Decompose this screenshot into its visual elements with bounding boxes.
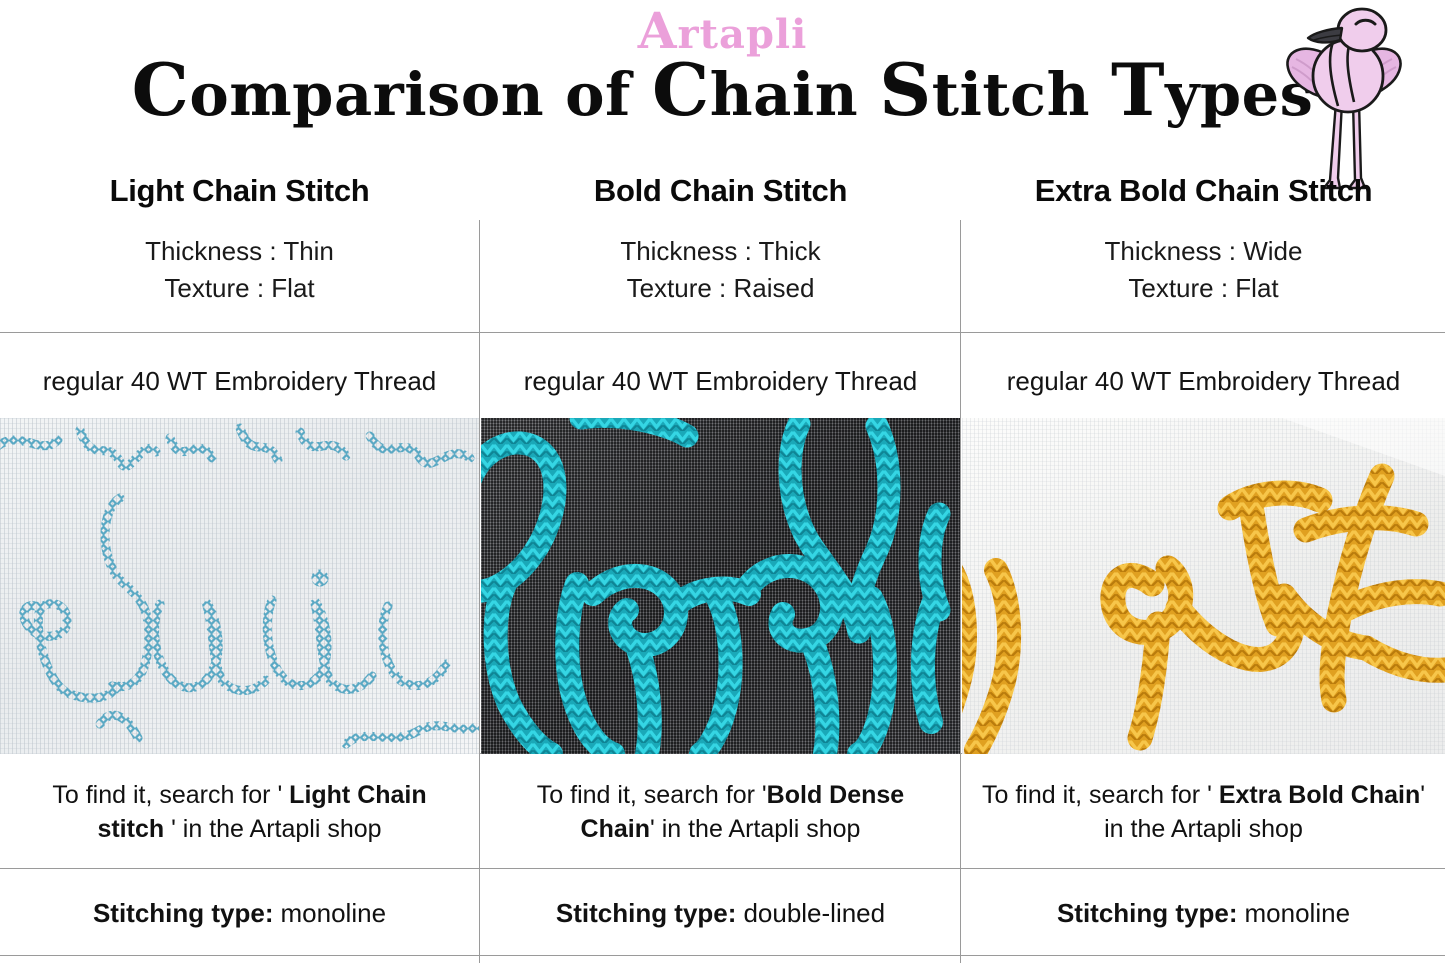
title-part-2-lead: C (652, 47, 710, 132)
title-part-4-lead: T (1111, 47, 1165, 132)
column-title: Light Chain Stitch (0, 173, 479, 223)
title-part-1: omparison of (189, 60, 652, 129)
stitching-type-label: Stitching type: (93, 898, 274, 929)
extra-bold-chain-stitch-photo (962, 418, 1445, 754)
find-instruction: To find it, search for 'Bold Dense Chain… (481, 757, 960, 867)
find-suffix: ' in the Artapli shop (650, 815, 860, 843)
column-specs: Thickness : Wide Texture : Flat (962, 233, 1445, 325)
thickness-line: Thickness : Thin (0, 233, 479, 270)
stitching-type-value: monoline (281, 898, 387, 929)
light-chain-stitch-photo (0, 418, 479, 754)
title-lead-letter: C (132, 47, 190, 132)
find-search-term: Extra Bold Chain (1219, 781, 1420, 809)
brand-logotype: Artapli (0, 6, 1445, 56)
column-extra-bold-chain-stitch: Extra Bold Chain Stitch Thickness : Wide… (962, 165, 1445, 963)
flamingo-icon (1258, 2, 1438, 192)
thread-spec: regular 40 WT Embroidery Thread (962, 345, 1445, 417)
title-part-3-lead: S (879, 47, 932, 132)
texture-line: Texture : Raised (481, 270, 960, 307)
stitching-type-label: Stitching type: (1057, 898, 1238, 929)
column-specs: Thickness : Thick Texture : Raised (481, 233, 960, 325)
find-suffix: ' in the Artapli shop (164, 815, 381, 843)
stitching-type-label: Stitching type: (556, 898, 737, 929)
column-light-chain-stitch: Light Chain Stitch Thickness : Thin Text… (0, 165, 479, 963)
thickness-line: Thickness : Thick (481, 233, 960, 270)
column-specs: Thickness : Thin Texture : Flat (0, 233, 479, 325)
title-part-3: titch (932, 60, 1111, 129)
column-title: Bold Chain Stitch (481, 173, 960, 223)
texture-line: Texture : Flat (962, 270, 1445, 307)
stitch-sample-photo (481, 418, 960, 754)
stitch-sample-photo (0, 418, 479, 754)
thickness-line: Thickness : Wide (962, 233, 1445, 270)
find-prefix: To find it, search for ' (52, 781, 289, 809)
title-part-2: hain (710, 60, 879, 129)
bold-chain-stitch-photo (481, 418, 960, 754)
stitching-type-value: double-lined (743, 898, 885, 929)
stitching-type-row: Stitching type:double-lined (481, 871, 960, 955)
column-bold-chain-stitch: Bold Chain Stitch Thickness : Thick Text… (481, 165, 960, 963)
thread-spec: regular 40 WT Embroidery Thread (0, 345, 479, 417)
find-prefix: To find it, search for ' (537, 781, 767, 809)
stitching-type-row: Stitching type:monoline (0, 871, 479, 955)
column-divider-2 (960, 220, 961, 963)
page-title: Comparison of Chain Stitch Types (0, 52, 1445, 128)
thread-spec: regular 40 WT Embroidery Thread (481, 345, 960, 417)
find-instruction: To find it, search for ' Light Chain sti… (0, 757, 479, 867)
find-instruction: To find it, search for ' Extra Bold Chai… (962, 757, 1445, 867)
stitching-type-row: Stitching type:monoline (962, 871, 1445, 955)
stitch-sample-photo (962, 418, 1445, 754)
comparison-table: Light Chain Stitch Thickness : Thin Text… (0, 165, 1445, 963)
page-header: Artapli Comparison of Chain Stitch Types (0, 0, 1445, 165)
stitching-type-value: monoline (1245, 898, 1351, 929)
column-title: Extra Bold Chain Stitch (962, 173, 1445, 223)
texture-line: Texture : Flat (0, 270, 479, 307)
column-divider-1 (479, 220, 480, 963)
find-prefix: To find it, search for ' (982, 781, 1219, 809)
